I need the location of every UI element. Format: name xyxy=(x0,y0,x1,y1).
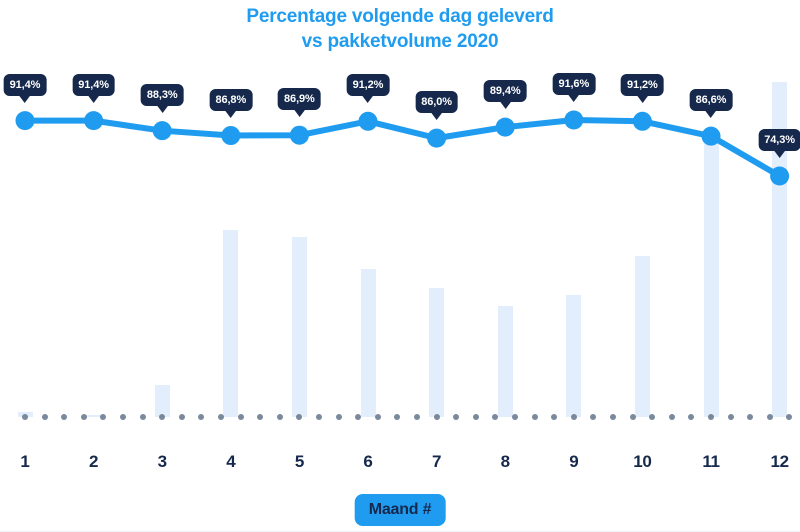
line-series xyxy=(0,0,800,440)
x-tick-6: 6 xyxy=(363,452,372,472)
x-axis-title-pill[interactable]: Maand # xyxy=(355,494,446,526)
data-point-11[interactable] xyxy=(702,127,721,146)
data-point-8[interactable] xyxy=(496,118,515,137)
data-point-7[interactable] xyxy=(427,129,446,148)
x-tick-12: 12 xyxy=(770,452,788,472)
value-badge-6: 91,2% xyxy=(347,74,390,96)
value-badge-10: 91,2% xyxy=(621,74,664,96)
x-tick-7: 7 xyxy=(432,452,441,472)
x-tick-9: 9 xyxy=(569,452,578,472)
x-tick-5: 5 xyxy=(295,452,304,472)
data-point-12[interactable] xyxy=(770,167,789,186)
value-badge-1: 91,4% xyxy=(4,74,47,96)
plot-area: 91,4%91,4%88,3%86,8%86,9%91,2%86,0%89,4%… xyxy=(0,0,800,440)
x-tick-3: 3 xyxy=(158,452,167,472)
x-axis-tick-labels: 123456789101112 xyxy=(0,452,800,478)
data-point-2[interactable] xyxy=(84,111,103,130)
value-badge-5: 86,9% xyxy=(278,88,321,110)
x-tick-2: 2 xyxy=(89,452,98,472)
value-badge-7: 86,0% xyxy=(415,91,458,113)
value-badge-4: 86,8% xyxy=(209,89,252,111)
data-point-10[interactable] xyxy=(633,112,652,131)
value-badge-2: 91,4% xyxy=(72,74,115,96)
data-point-6[interactable] xyxy=(359,112,378,131)
line-path xyxy=(25,120,780,176)
data-point-5[interactable] xyxy=(290,126,309,145)
value-badge-9: 91,6% xyxy=(552,73,595,95)
data-point-1[interactable] xyxy=(16,111,35,130)
data-point-4[interactable] xyxy=(221,126,240,145)
value-badge-8: 89,4% xyxy=(484,80,527,102)
value-badge-3: 88,3% xyxy=(141,84,184,106)
x-tick-8: 8 xyxy=(501,452,510,472)
x-tick-4: 4 xyxy=(226,452,235,472)
value-badge-11: 86,6% xyxy=(690,89,733,111)
value-badge-12: 74,3% xyxy=(758,129,800,151)
data-point-3[interactable] xyxy=(153,121,172,140)
data-point-9[interactable] xyxy=(564,111,583,130)
line-markers xyxy=(16,111,790,186)
x-tick-11: 11 xyxy=(702,452,719,472)
x-tick-1: 1 xyxy=(20,452,29,472)
x-tick-10: 10 xyxy=(633,452,651,472)
